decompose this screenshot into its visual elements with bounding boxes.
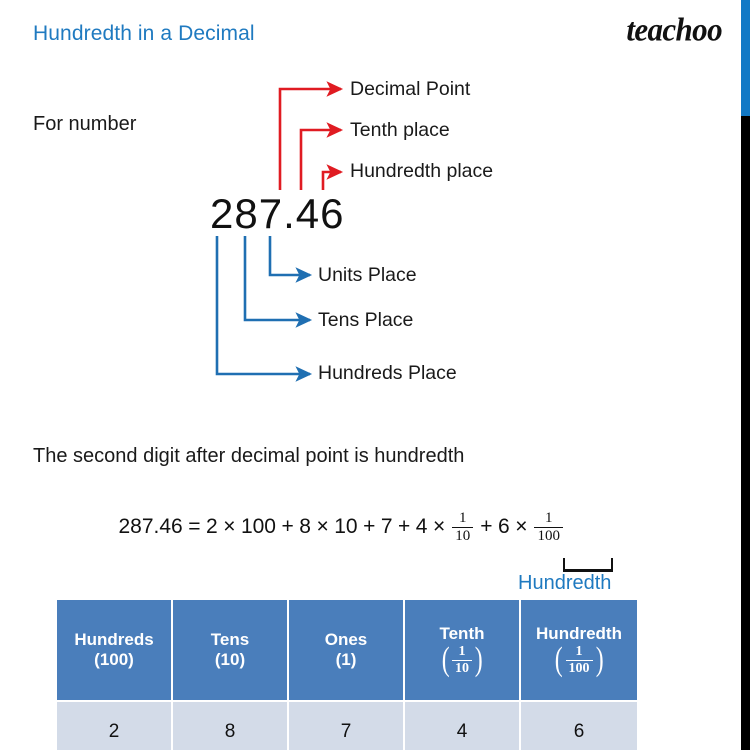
right-paren-icon: ) xyxy=(475,645,483,676)
red-arrow-group xyxy=(280,89,341,190)
hundredth-caption: Hundredth xyxy=(518,572,611,595)
left-paren-icon: ( xyxy=(441,645,449,676)
equation-equals: = xyxy=(188,515,200,539)
teachoo-logo: teachoo xyxy=(626,11,722,49)
equation-term1-coeff: 2 xyxy=(206,515,218,539)
equation-term4-coeff: 4 xyxy=(416,515,428,539)
label-hundreds-place: Hundreds Place xyxy=(318,362,457,385)
right-edge-black-strip xyxy=(741,116,750,750)
fraction-denominator: 10 xyxy=(452,660,472,676)
table-header-hundredth: Hundredth ( 1 100 ) xyxy=(521,600,637,700)
table-header-ones: Ones (1) xyxy=(289,600,405,700)
fraction-numerator: 1 xyxy=(456,645,469,660)
table-header-row: Hundreds (100) Tens (10) Ones (1) Tenth … xyxy=(57,600,637,700)
equation-mult2-icon: × xyxy=(316,515,328,539)
header-sub: ( 1 10 ) xyxy=(407,645,517,676)
header-name: Tens xyxy=(211,630,249,649)
header-fraction: ( 1 100 ) xyxy=(553,645,605,676)
label-hundredth-place: Hundredth place xyxy=(350,160,493,183)
digit-cell-tenth: 4 xyxy=(405,700,521,750)
header-name: Hundredth xyxy=(536,624,622,643)
table-row: 2 8 7 4 6 xyxy=(57,700,637,750)
equation-term5-coeff: 6 xyxy=(498,515,510,539)
statement-text: The second digit after decimal point is … xyxy=(33,445,464,468)
equation-fraction-hundredth: 1 100 xyxy=(534,511,563,545)
header-sub: (100) xyxy=(59,650,169,670)
blue-arrow-group xyxy=(217,236,310,374)
fraction-numerator: 1 xyxy=(573,645,586,660)
equation-mult4-icon: × xyxy=(433,515,445,539)
fraction-denominator: 100 xyxy=(566,660,593,676)
fraction-numerator: 1 xyxy=(542,511,556,527)
equation-plus2: + xyxy=(363,515,375,539)
header-sub: (10) xyxy=(175,650,285,670)
label-decimal-point: Decimal Point xyxy=(350,78,470,101)
equation-plus4: + xyxy=(480,515,492,539)
focus-number: 287.46 xyxy=(210,190,344,238)
label-tenth-place: Tenth place xyxy=(350,119,450,142)
for-number-label: For number xyxy=(33,113,136,136)
left-paren-icon: ( xyxy=(555,645,563,676)
equation-mult5-icon: × xyxy=(515,515,527,539)
table-header-tenth: Tenth ( 1 10 ) xyxy=(405,600,521,700)
right-paren-icon: ) xyxy=(595,645,603,676)
equation-term2-coeff: 8 xyxy=(299,515,311,539)
equation-term3-value: 7 xyxy=(381,515,393,539)
table-header-hundreds: Hundreds (100) xyxy=(57,600,173,700)
equation-term2-value: 10 xyxy=(334,515,357,539)
place-value-table: Hundreds (100) Tens (10) Ones (1) Tenth … xyxy=(57,600,637,750)
fraction-denominator: 100 xyxy=(534,527,563,544)
digit-cell-ones: 7 xyxy=(289,700,405,750)
label-tens-place: Tens Place xyxy=(318,309,413,332)
header-sub: (1) xyxy=(291,650,401,670)
fraction-numerator: 1 xyxy=(456,511,470,527)
slide-canvas: Hundredth in a Decimal teachoo For numbe… xyxy=(0,0,750,750)
equation-term1-value: 100 xyxy=(241,515,276,539)
right-edge-blue-strip xyxy=(741,0,750,116)
label-units-place: Units Place xyxy=(318,264,417,287)
header-name: Hundreds xyxy=(74,630,153,649)
header-fraction: ( 1 10 ) xyxy=(440,645,485,676)
equation-lhs: 287.46 xyxy=(119,515,183,539)
header-name: Ones xyxy=(325,630,368,649)
equation-mult1-icon: × xyxy=(223,515,235,539)
expanded-form-equation: 287.46 = 2 × 100 + 8 × 10 + 7 + 4 × 1 10… xyxy=(117,510,566,544)
header-sub: ( 1 100 ) xyxy=(523,645,635,676)
equation-fraction-tenth: 1 10 xyxy=(452,511,473,545)
fraction-denominator: 10 xyxy=(452,527,473,544)
digit-cell-tens: 8 xyxy=(173,700,289,750)
page-title: Hundredth in a Decimal xyxy=(33,22,255,46)
digit-cell-hundreds: 2 xyxy=(57,700,173,750)
hundredth-brace xyxy=(563,558,613,572)
table-header-tens: Tens (10) xyxy=(173,600,289,700)
equation-plus3: + xyxy=(398,515,410,539)
equation-plus1: + xyxy=(282,515,294,539)
digit-cell-hundredth: 6 xyxy=(521,700,637,750)
